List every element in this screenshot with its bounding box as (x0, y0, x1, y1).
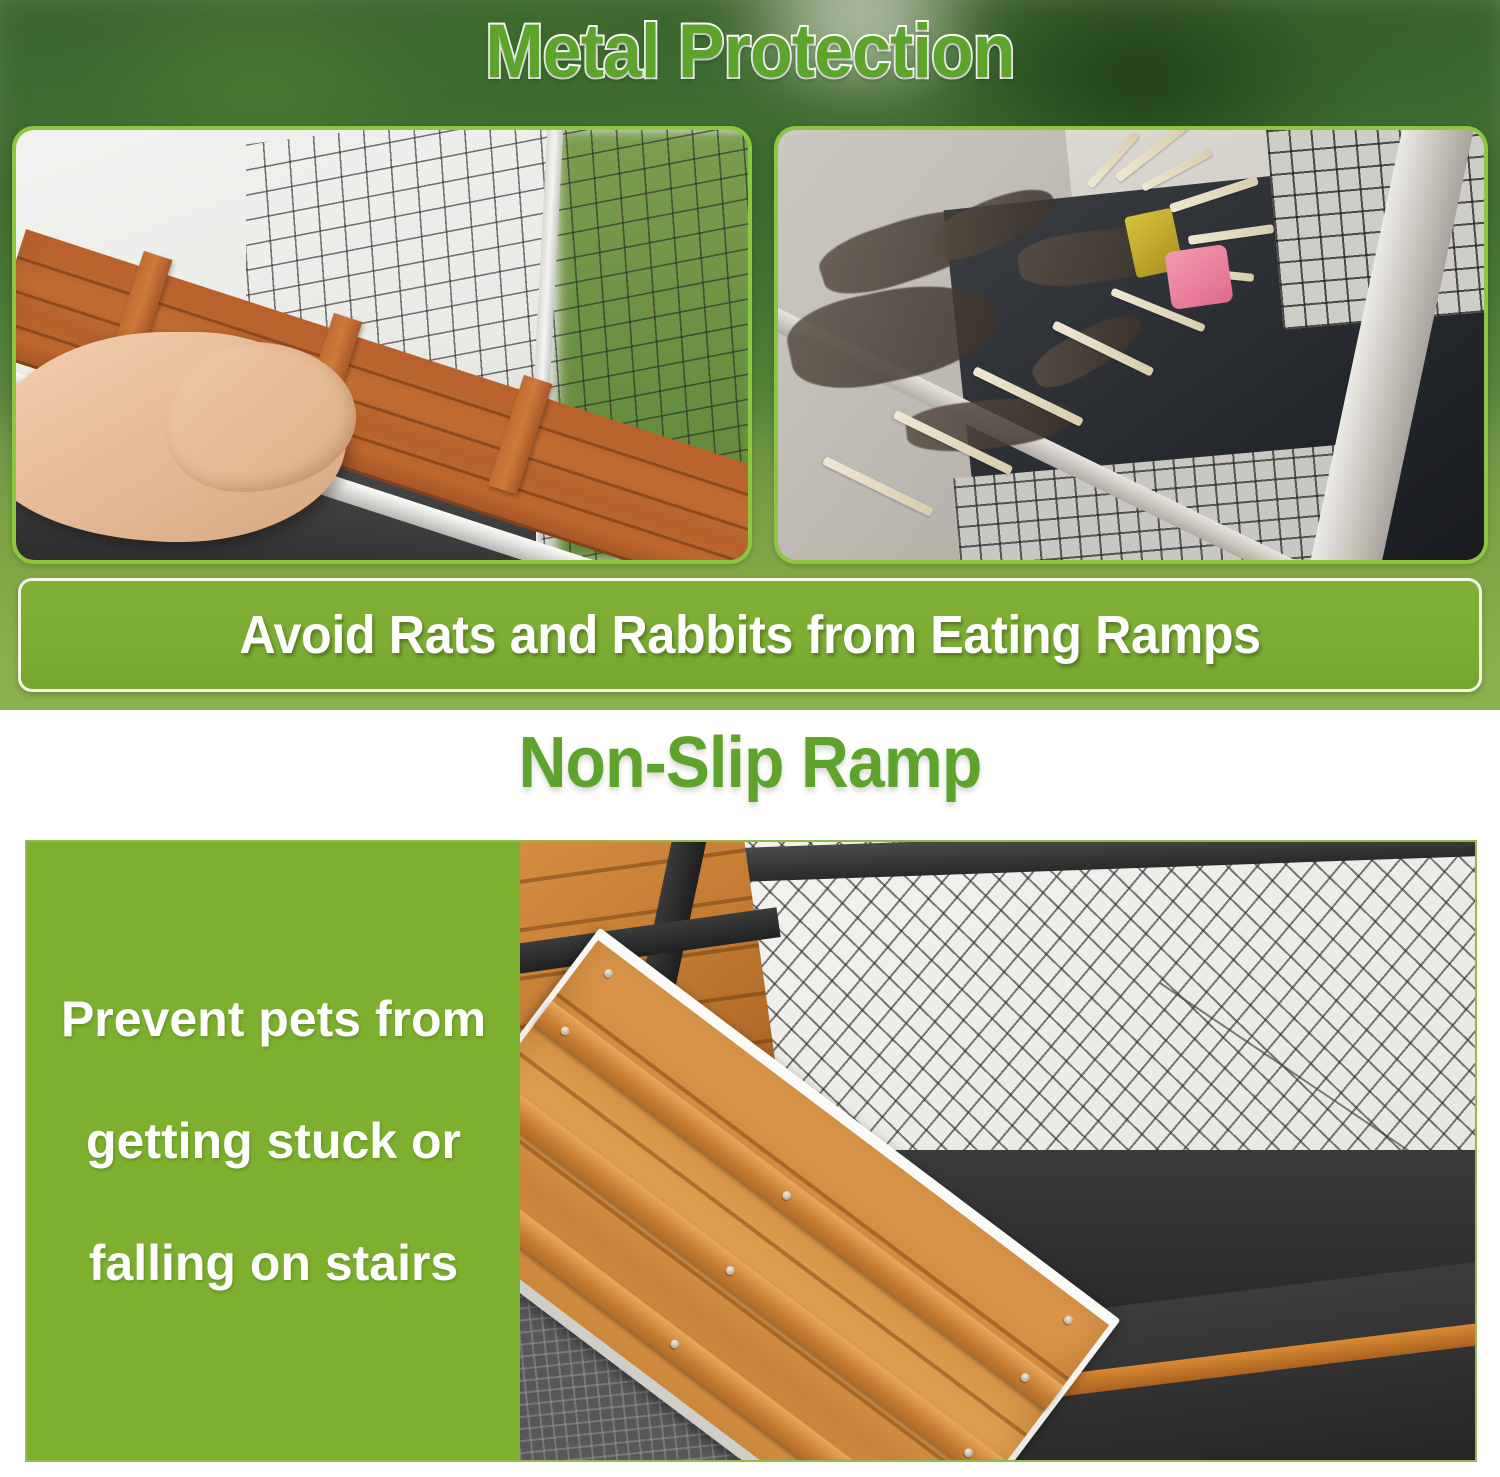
benefit-line: Prevent pets from (61, 994, 486, 1044)
pink-debris-chip (1164, 244, 1233, 310)
benefit-line: falling on stairs (89, 1238, 459, 1288)
page-title-non-slip-ramp: Non-Slip Ramp (60, 722, 1440, 804)
benefit-line: getting stuck or (86, 1116, 461, 1166)
photo-chewed-damaged-ramp (774, 126, 1488, 564)
benefit-text-panel: Prevent pets from getting stuck or falli… (27, 842, 520, 1460)
product-feature-page: Metal Protection (0, 0, 1500, 1477)
non-slip-ramp-section: Prevent pets from getting stuck or falli… (25, 840, 1477, 1462)
top-photo-row (12, 126, 1488, 564)
feature-banner-avoid-rats: Avoid Rats and Rabbits from Eating Ramps (18, 578, 1482, 692)
page-title-metal-protection: Metal Protection (60, 8, 1440, 95)
banner-text: Avoid Rats and Rabbits from Eating Ramps (239, 604, 1260, 666)
metal-protection-section: Metal Protection (0, 0, 1500, 710)
photo-non-slip-ramp-in-coop (520, 842, 1475, 1460)
photo-hand-holding-metal-edged-ramp (12, 126, 752, 564)
